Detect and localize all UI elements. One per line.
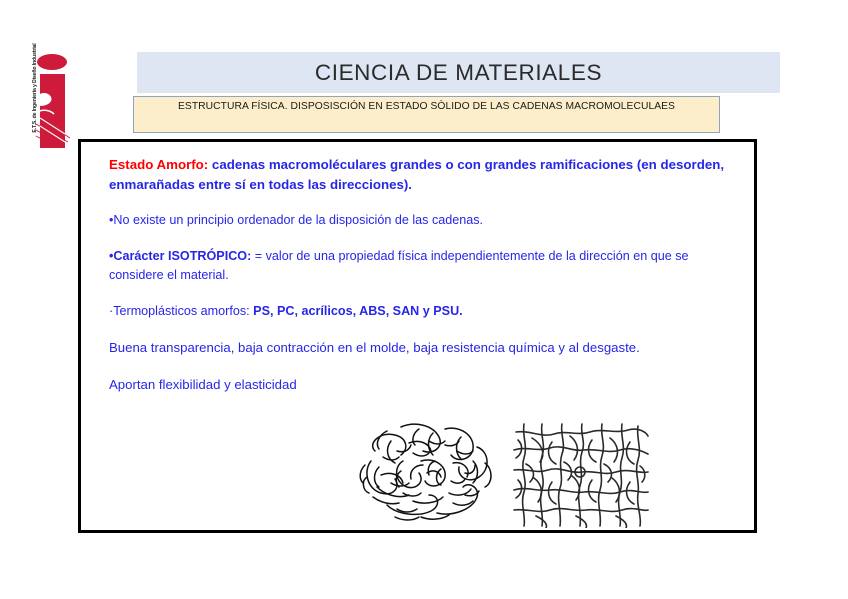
polymer-network-micrograph bbox=[512, 420, 650, 528]
termoplasticos-list: PS, PC, acrílicos, ABS, SAN y PSU. bbox=[253, 304, 463, 318]
bullet-principio-ordenador: •No existe un principio ordenador de la … bbox=[109, 211, 731, 230]
estado-amorfo-label: Estado Amorfo: bbox=[109, 157, 208, 172]
termoplasticos-label: ·Termoplásticos amorfos: bbox=[109, 304, 253, 318]
paragraph-transparencia: Buena transparencia, baja contracción en… bbox=[109, 337, 725, 358]
red-i-logo-icon bbox=[34, 52, 72, 148]
isotropico-label: •Carácter ISOTRÓPICO: bbox=[109, 249, 251, 263]
subtitle-line-2: MACROMOLECULAES bbox=[566, 101, 675, 112]
header-banner: CIENCIA DE MATERIALES bbox=[137, 52, 780, 93]
content-body: Estado Amorfo: cadenas macromoléculares … bbox=[109, 155, 731, 395]
institution-logo: E.T.S. de Ingeniería y Diseño Industrial bbox=[16, 52, 72, 148]
page-title: CIENCIA DE MATERIALES bbox=[315, 60, 602, 86]
amorphous-chain-tangle-diagram bbox=[357, 417, 505, 528]
subtitle-box: ESTRUCTURA FÍSICA. DISPOSISCIÓN EN ESTAD… bbox=[133, 96, 720, 133]
subtitle-line-1: ESTRUCTURA FÍSICA. DISPOSISCIÓN EN ESTAD… bbox=[178, 101, 563, 112]
subtitle-text: ESTRUCTURA FÍSICA. DISPOSISCIÓN EN ESTAD… bbox=[178, 99, 675, 115]
bullet-caracter-isotropico: •Carácter ISOTRÓPICO: = valor de una pro… bbox=[109, 247, 731, 285]
bullet-termoplasticos-amorfos: ·Termoplásticos amorfos: PS, PC, acrílic… bbox=[109, 302, 731, 321]
paragraph-estado-amorfo: Estado Amorfo: cadenas macromoléculares … bbox=[109, 155, 731, 194]
paragraph-flexibilidad: Aportan flexibilidad y elasticidad bbox=[109, 374, 731, 395]
